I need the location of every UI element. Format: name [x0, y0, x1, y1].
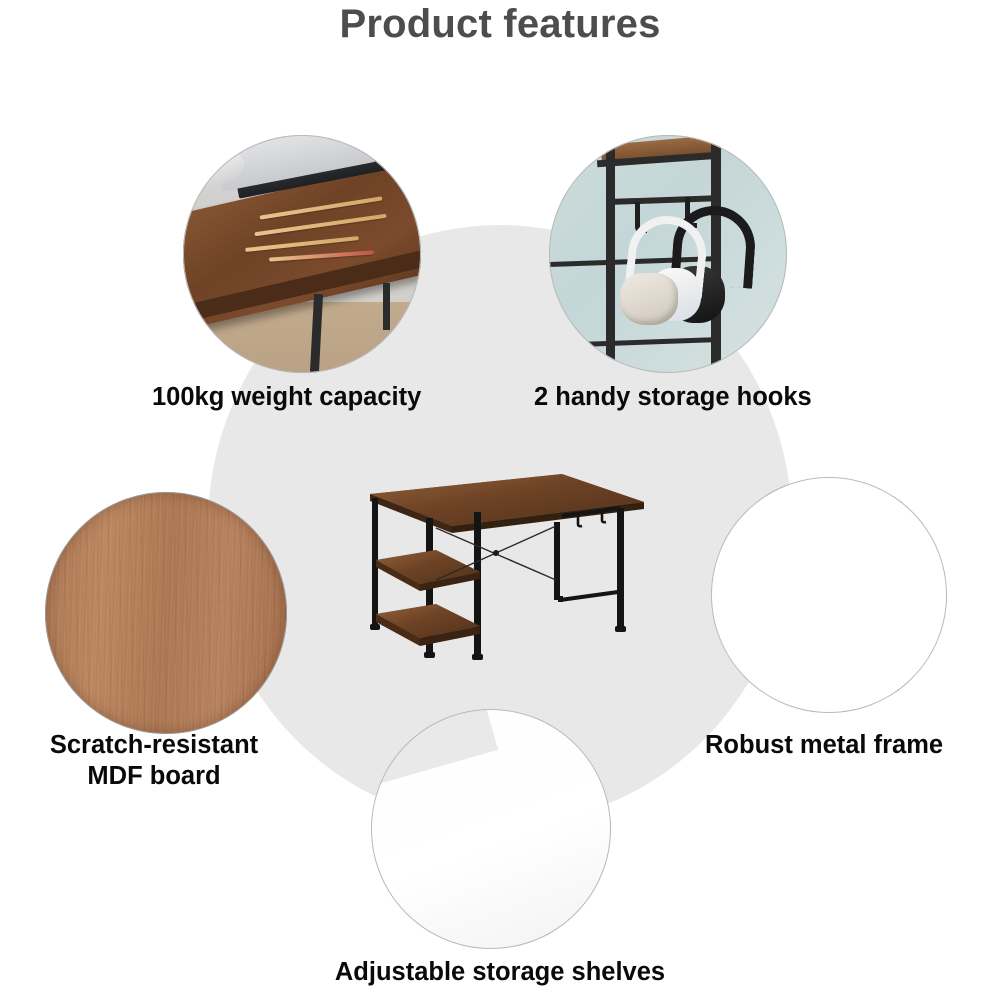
feature-photo-metal-frame [711, 477, 947, 713]
page-title: Product features [0, 2, 1000, 47]
feature-label-metal-frame: Robust metal frame [705, 730, 943, 761]
feature-label-mdf-board: Scratch-resistant MDF board [38, 730, 270, 791]
hero-product-image-desk [352, 468, 652, 668]
photo-white-headphones-cup [620, 273, 677, 325]
feature-photo-weight-capacity [183, 135, 421, 373]
feature-label-storage-hooks: 2 handy storage hooks [534, 382, 812, 413]
feature-photo-storage-hooks [549, 135, 787, 373]
feature-photo-mdf-board [45, 492, 287, 734]
desk-illustration [352, 468, 652, 668]
feature-label-storage-shelves: Adjustable storage shelves [0, 957, 1000, 988]
photo-wood-edge-shading [45, 492, 287, 734]
photo-desk-leg [383, 283, 390, 331]
feature-photo-storage-shelves [371, 709, 611, 949]
product-features-infographic: Product features [0, 0, 1000, 1000]
photo-backdrop [711, 477, 947, 713]
feature-label-weight-capacity: 100kg weight capacity [152, 382, 421, 413]
